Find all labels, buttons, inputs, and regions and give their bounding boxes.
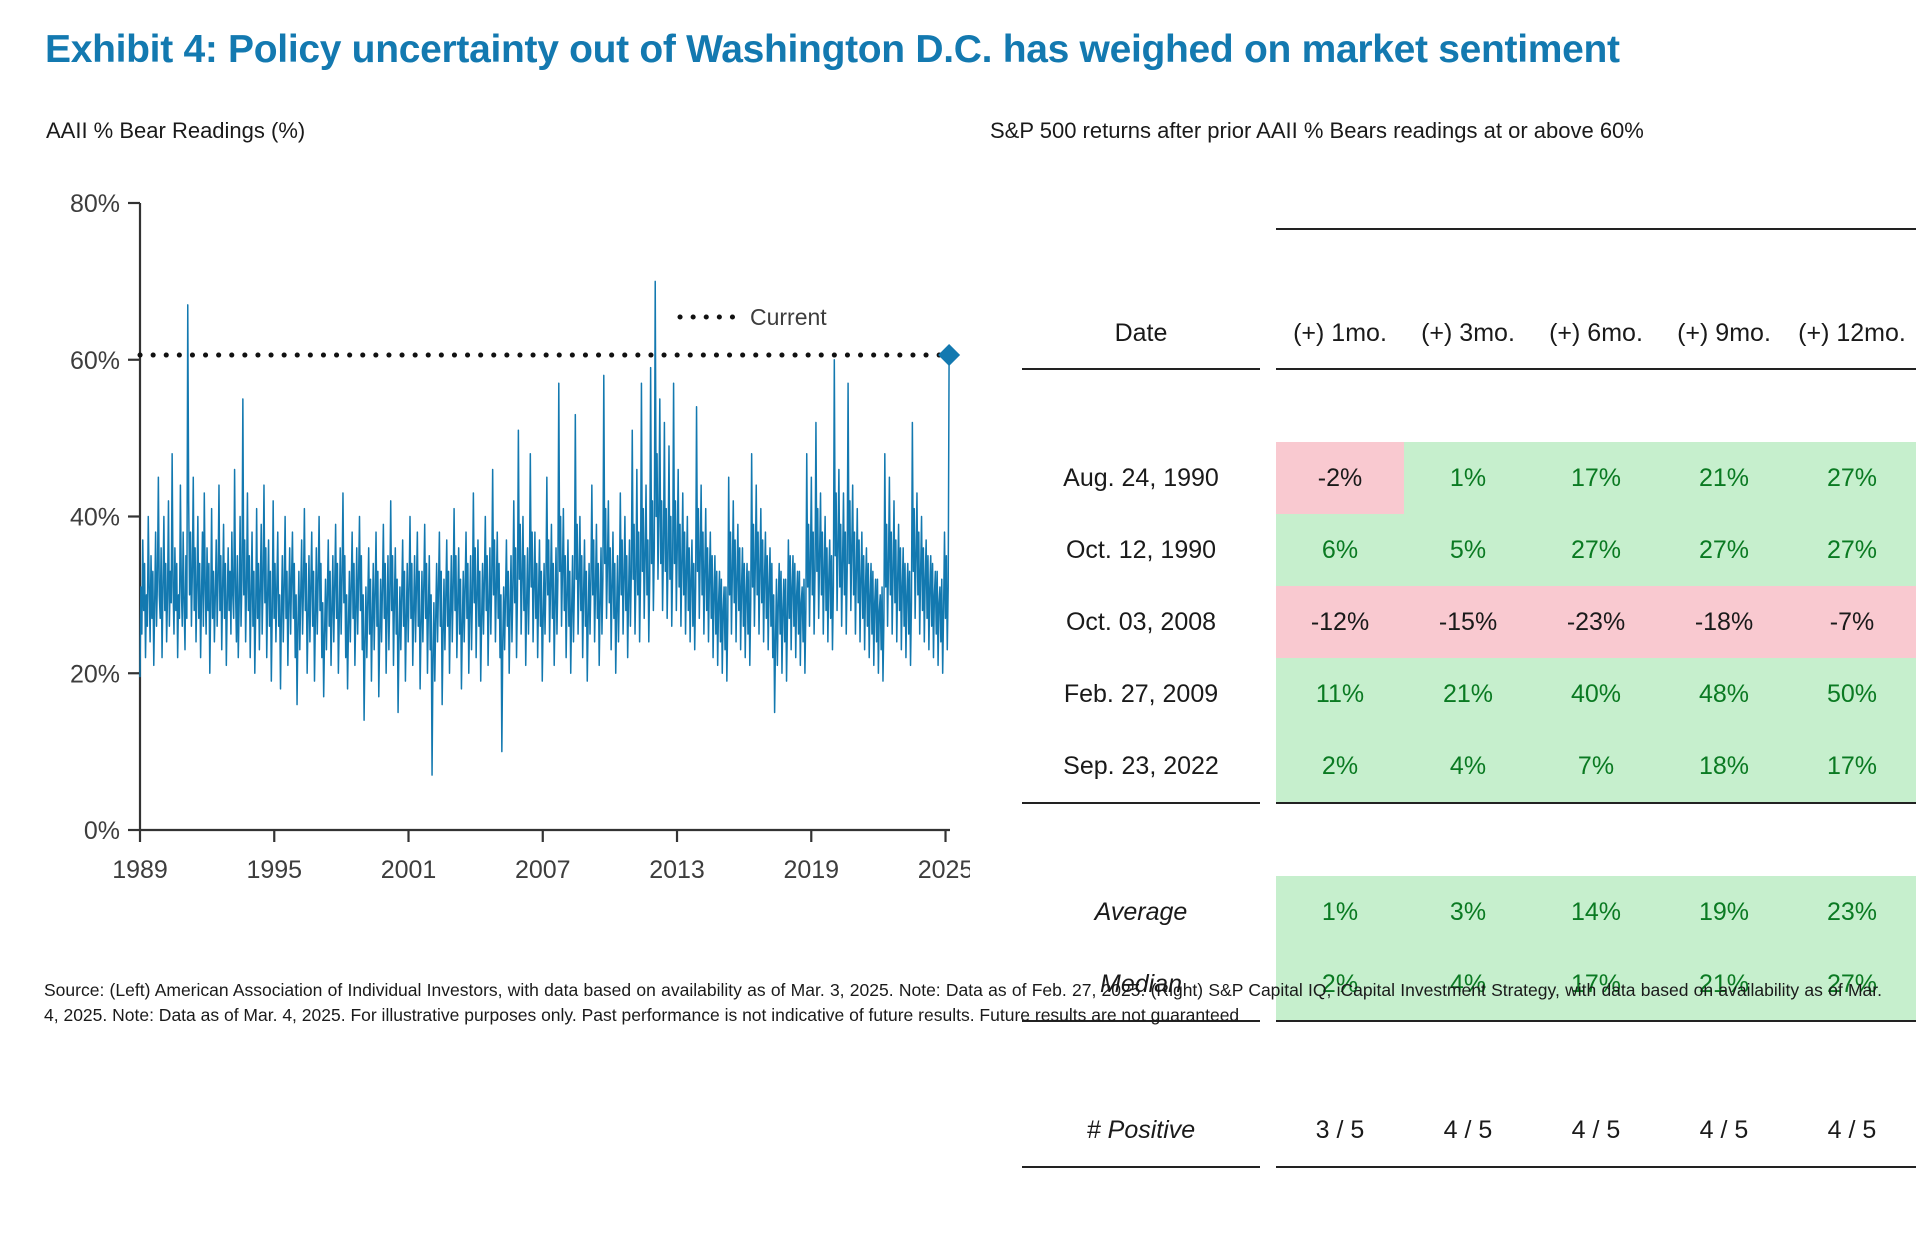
return-cell: 17% — [1788, 730, 1916, 803]
row-gap — [1260, 514, 1276, 586]
row-label: Oct. 03, 2008 — [1022, 586, 1260, 658]
rule-gap — [1260, 803, 1276, 876]
table-row: Feb. 27, 200911%21%40%48%50% — [1022, 658, 1916, 730]
column-header-3mo: (+) 6mo. — [1532, 302, 1660, 369]
row-gap — [1260, 730, 1276, 803]
rule-segment-date — [1022, 1167, 1260, 1240]
return-cell: 48% — [1660, 658, 1788, 730]
return-cell: 14% — [1532, 876, 1660, 948]
x-tick-label: 2007 — [515, 856, 571, 884]
chart-svg: 0%20%40%60%80%19891995200120072013201920… — [40, 185, 970, 925]
column-header-5mo: (+) 12mo. — [1788, 302, 1916, 369]
table-bottom-rule — [1022, 1167, 1916, 1240]
column-header-2mo: (+) 3mo. — [1404, 302, 1532, 369]
sp500-returns-table: Date(+) 1mo.(+) 3mo.(+) 6mo.(+) 9mo.(+) … — [1022, 228, 1902, 1240]
return-cell: 4 / 5 — [1660, 1094, 1788, 1167]
rule-gap — [1260, 229, 1276, 302]
return-cell: -12% — [1276, 586, 1404, 658]
x-tick-label: 2019 — [783, 856, 839, 884]
table-row: Aug. 24, 1990-2%1%17%21%27% — [1022, 442, 1916, 514]
return-cell: 23% — [1788, 876, 1916, 948]
row-gap — [1260, 1094, 1276, 1167]
return-cell: 27% — [1532, 514, 1660, 586]
return-cell: 3 / 5 — [1276, 1094, 1404, 1167]
rule-segment-date — [1022, 369, 1260, 442]
return-cell: 4 / 5 — [1404, 1094, 1532, 1167]
return-cell: -23% — [1532, 586, 1660, 658]
rule-segment-date — [1022, 1021, 1260, 1094]
rule-segment-values — [1276, 1021, 1916, 1094]
rule-gap — [1260, 1167, 1276, 1240]
row-gap — [1260, 442, 1276, 514]
return-cell: 18% — [1660, 730, 1788, 803]
y-tick-label: 40% — [70, 504, 120, 532]
return-cell: 7% — [1532, 730, 1660, 803]
row-gap — [1260, 586, 1276, 658]
return-cell: -18% — [1660, 586, 1788, 658]
row-label: Average — [1022, 876, 1260, 948]
table-count-row: # Positive3 / 54 / 54 / 54 / 54 / 5 — [1022, 1094, 1916, 1167]
y-tick-label: 0% — [84, 817, 120, 845]
return-cell: 1% — [1276, 876, 1404, 948]
return-cell: 19% — [1660, 876, 1788, 948]
return-cell: 11% — [1276, 658, 1404, 730]
rule-segment-values — [1276, 369, 1916, 442]
return-cell: 5% — [1404, 514, 1532, 586]
page-title: Exhibit 4: Policy uncertainty out of Was… — [45, 28, 1620, 72]
row-label: # Positive — [1022, 1094, 1260, 1167]
x-tick-label: 1989 — [112, 856, 168, 884]
header-gap — [1260, 302, 1276, 369]
return-cell: -15% — [1404, 586, 1532, 658]
table-summary-row: Average1%3%14%19%23% — [1022, 876, 1916, 948]
table-summary-rule — [1022, 803, 1916, 876]
row-label: Sep. 23, 2022 — [1022, 730, 1260, 803]
exhibit-page: Exhibit 4: Policy uncertainty out of Was… — [0, 0, 1920, 1080]
source-footnote: Source: (Left) American Association of I… — [44, 978, 1882, 1028]
return-cell: 27% — [1788, 442, 1916, 514]
rule-segment-values — [1276, 229, 1916, 302]
return-cell: 4% — [1404, 730, 1532, 803]
return-cell: 21% — [1660, 442, 1788, 514]
return-cell: -2% — [1276, 442, 1404, 514]
return-cell: 3% — [1404, 876, 1532, 948]
table-row: Sep. 23, 20222%4%7%18%17% — [1022, 730, 1916, 803]
return-cell: 4 / 5 — [1788, 1094, 1916, 1167]
row-label: Aug. 24, 1990 — [1022, 442, 1260, 514]
column-header-4mo: (+) 9mo. — [1660, 302, 1788, 369]
row-gap — [1260, 658, 1276, 730]
return-cell: 6% — [1276, 514, 1404, 586]
return-cell: 17% — [1532, 442, 1660, 514]
column-header-date: Date — [1022, 302, 1260, 369]
return-cell: 1% — [1404, 442, 1532, 514]
x-tick-label: 2001 — [381, 856, 437, 884]
return-cell: 21% — [1404, 658, 1532, 730]
x-tick-label: 1995 — [246, 856, 302, 884]
table-count-rule — [1022, 1021, 1916, 1094]
current-value-marker — [938, 344, 960, 366]
return-cell: 2% — [1276, 730, 1404, 803]
row-gap — [1260, 876, 1276, 948]
x-tick-label: 2025 — [918, 856, 970, 884]
rule-gap — [1260, 369, 1276, 442]
y-tick-label: 20% — [70, 660, 120, 688]
rule-spacer — [1022, 229, 1260, 302]
rule-segment-values — [1276, 803, 1916, 876]
return-cell: 27% — [1660, 514, 1788, 586]
return-cell: 40% — [1532, 658, 1660, 730]
y-tick-label: 60% — [70, 347, 120, 375]
row-label: Oct. 12, 1990 — [1022, 514, 1260, 586]
aaii-bear-readings-chart: 0%20%40%60%80%19891995200120072013201920… — [40, 185, 970, 925]
legend-label-current: Current — [750, 304, 827, 330]
returns-table: Date(+) 1mo.(+) 3mo.(+) 6mo.(+) 9mo.(+) … — [1022, 228, 1916, 1240]
return-cell: 27% — [1788, 514, 1916, 586]
column-header-1mo: (+) 1mo. — [1276, 302, 1404, 369]
table-top-rule — [1022, 229, 1916, 302]
rule-segment-values — [1276, 1167, 1916, 1240]
rule-gap — [1260, 1021, 1276, 1094]
return-cell: 50% — [1788, 658, 1916, 730]
left-chart-subtitle: AAII % Bear Readings (%) — [46, 118, 305, 144]
x-tick-label: 2013 — [649, 856, 705, 884]
row-label: Feb. 27, 2009 — [1022, 658, 1260, 730]
right-table-subtitle: S&P 500 returns after prior AAII % Bears… — [990, 118, 1644, 144]
rule-segment-date — [1022, 803, 1260, 876]
table-row: Oct. 03, 2008-12%-15%-23%-18%-7% — [1022, 586, 1916, 658]
return-cell: 4 / 5 — [1532, 1094, 1660, 1167]
y-tick-label: 80% — [70, 190, 120, 218]
table-header-rule — [1022, 369, 1916, 442]
return-cell: -7% — [1788, 586, 1916, 658]
table-header-row: Date(+) 1mo.(+) 3mo.(+) 6mo.(+) 9mo.(+) … — [1022, 302, 1916, 369]
table-row: Oct. 12, 19906%5%27%27%27% — [1022, 514, 1916, 586]
